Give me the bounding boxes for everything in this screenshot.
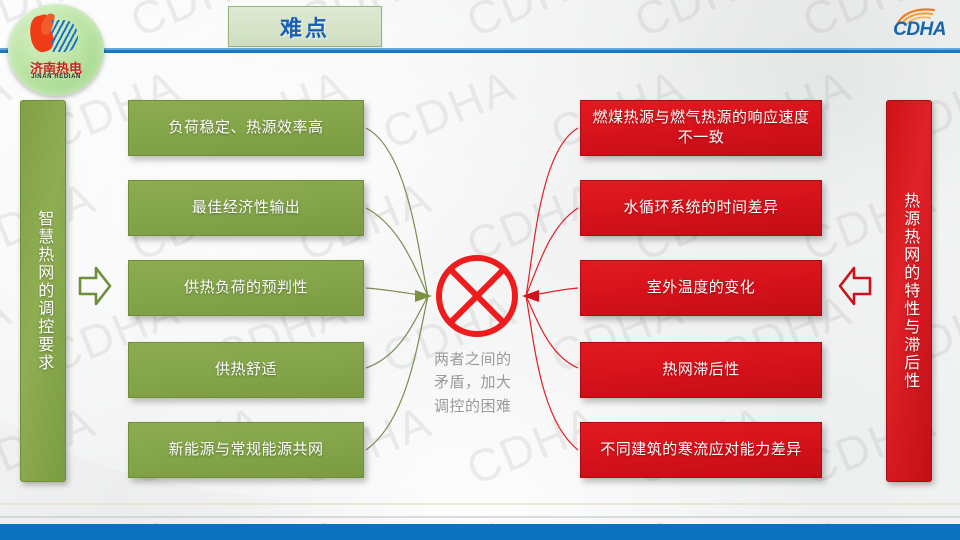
logo-en-text: JINAN REDIAN (8, 74, 104, 80)
watermark-text: CDHA (459, 0, 607, 48)
left-item-label: 负荷稳定、热源效率高 (168, 118, 323, 138)
jinan-redian-logo: 济南热电 JINAN REDIAN (8, 4, 104, 96)
right-item-box[interactable]: 室外温度的变化 (580, 260, 822, 316)
left-item-label: 供热舒适 (215, 360, 277, 380)
center-caption: 两者之间的矛盾，加大调控的困难 (434, 348, 520, 418)
watermark-text: CDHA (627, 0, 775, 48)
right-pillar-label: 热源热网的特性与滞后性 (899, 192, 919, 390)
green-arrowhead (415, 290, 432, 302)
right-item-label: 热网滞后性 (662, 360, 740, 380)
right-item-label: 室外温度的变化 (647, 278, 756, 298)
right-pillar[interactable]: 热源热网的特性与滞后性 (886, 100, 932, 482)
page-title: 难点 (280, 11, 330, 43)
left-item-label: 供热负荷的预判性 (184, 278, 308, 298)
right-item-box[interactable]: 燃煤热源与燃气热源的响应速度不一致 (580, 100, 822, 156)
page-title-plate: 难点 (228, 6, 382, 47)
bottom-rule-cool (0, 516, 960, 518)
right-item-label: 不同建筑的寒流应对能力差异 (600, 440, 802, 460)
cdha-logo: CDHA (864, 8, 946, 42)
left-pillar[interactable]: 智慧热网的调控要求 (20, 100, 66, 482)
right-item-label: 燃煤热源与燃气热源的响应速度不一致 (589, 108, 813, 149)
right-item-box[interactable]: 水循环系统的时间差异 (580, 180, 822, 236)
left-item-label: 新能源与常规能源共网 (168, 440, 323, 460)
left-item-box[interactable]: 供热负荷的预判性 (128, 260, 364, 316)
right-item-label: 水循环系统的时间差异 (623, 198, 778, 218)
left-item-box[interactable]: 负荷稳定、热源效率高 (128, 100, 364, 156)
left-item-label: 最佳经济性输出 (192, 198, 301, 218)
top-divider-highlight (0, 48, 960, 50)
left-item-box[interactable]: 最佳经济性输出 (128, 180, 364, 236)
bottom-bar (0, 524, 960, 540)
red-arrowhead (522, 290, 539, 302)
bottom-rule-warm (0, 503, 960, 505)
right-item-box[interactable]: 不同建筑的寒流应对能力差异 (580, 422, 822, 478)
arrow-left-icon (838, 264, 872, 308)
left-item-box[interactable]: 新能源与常规能源共网 (128, 422, 364, 478)
arrow-right-icon (78, 264, 112, 308)
watermark-text: CDHA (0, 282, 19, 384)
slide-canvas: CDHACDHACDHACDHACDHACDHACDHACDHACDHACDHA… (0, 0, 960, 540)
left-pillar-label: 智慧热网的调控要求 (33, 210, 53, 372)
circle-x-icon (434, 253, 520, 339)
cdha-wordmark: CDHA (893, 19, 946, 41)
watermark-text: CDHA (375, 58, 523, 160)
right-item-box[interactable]: 热网滞后性 (580, 342, 822, 398)
fan-lines-icon (52, 20, 78, 52)
left-item-box[interactable]: 供热舒适 (128, 342, 364, 398)
